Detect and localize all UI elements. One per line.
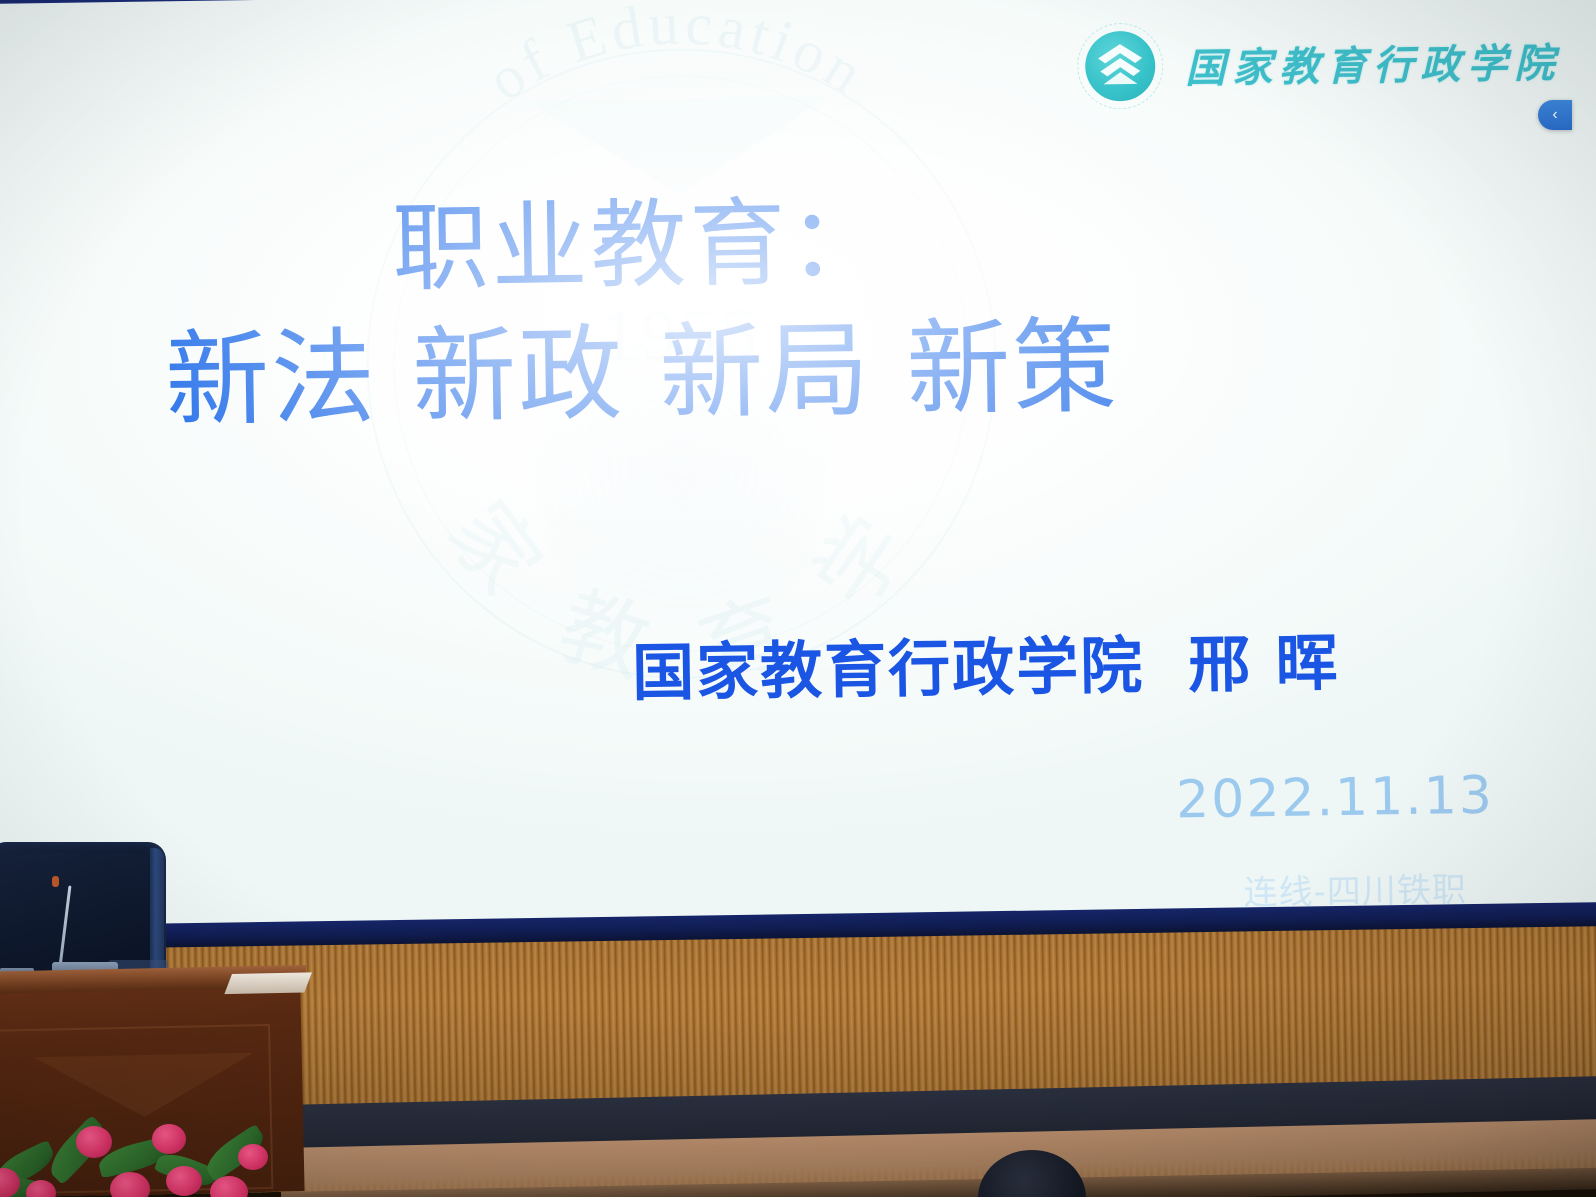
academy-logo: 国家教育行政学院 <box>1077 17 1562 110</box>
flower-bloom <box>238 1144 268 1170</box>
flower-bloom <box>26 1180 56 1197</box>
watermark-chevron <box>528 97 829 197</box>
projection-screen: of Education 国 家 教 育 学 院 1955 <box>0 0 1596 950</box>
chevron-left-icon: ‹ <box>1552 107 1557 123</box>
flower-bloom <box>210 1176 248 1197</box>
podium-top-highlight <box>224 972 312 994</box>
slide-title-line-2: 新法 新政 新局 新策 <box>0 300 1293 448</box>
slide-surface: of Education 国 家 教 育 学 院 1955 <box>0 0 1596 926</box>
presenter-affiliation: 国家教育行政学院 <box>632 629 1145 710</box>
flower-bloom <box>110 1172 150 1197</box>
podium-chevron-inlay <box>33 1053 254 1120</box>
flower-arrangement <box>0 1118 280 1197</box>
flower-bloom <box>76 1126 112 1158</box>
academy-emblem-icon <box>1077 23 1164 110</box>
emblem-chevron-icon <box>1085 31 1156 102</box>
flower-bloom <box>152 1124 186 1154</box>
collapse-panel-button[interactable]: ‹ <box>1538 100 1572 130</box>
watermark-arc-top-text: of Education <box>475 0 879 114</box>
academy-logo-text: 国家教育行政学院 <box>1185 31 1562 95</box>
slide-title-line-1: 职业教育： <box>0 181 1291 312</box>
presenter-spacer <box>1144 686 1188 687</box>
flower-bloom <box>166 1166 202 1196</box>
lecture-hall-scene: of Education 国 家 教 育 学 院 1955 <box>0 0 1596 1197</box>
presenter-name: 邢 晖 <box>1188 626 1341 701</box>
slide-title-block: 职业教育： 新法 新政 新局 新策 <box>0 181 1293 449</box>
presenter-line: 国家教育行政学院邢 晖 <box>631 612 1340 712</box>
microphone-tip <box>52 876 59 887</box>
slide-date: 2022.11.13 <box>1176 766 1495 831</box>
